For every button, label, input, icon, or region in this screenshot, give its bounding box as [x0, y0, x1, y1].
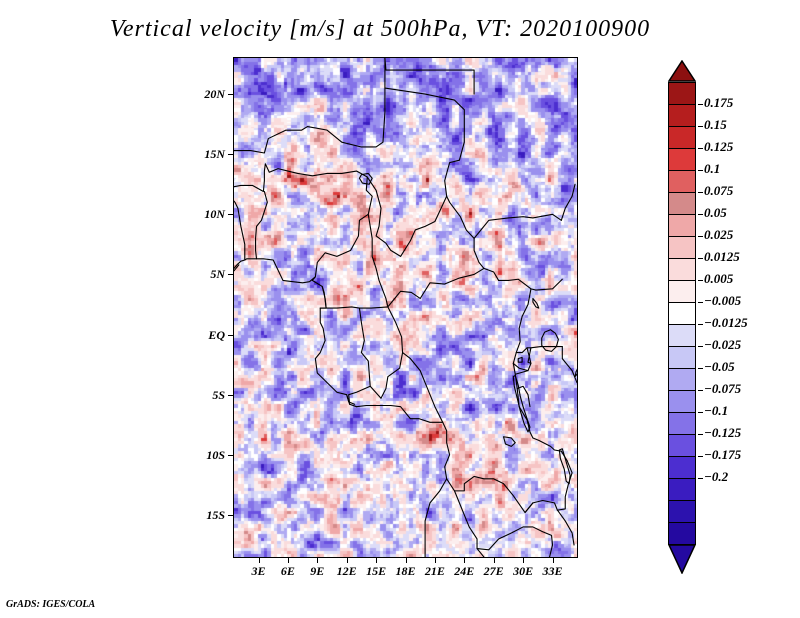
- colorbar-swatch[interactable]: [668, 346, 696, 369]
- colorbar-swatch[interactable]: [668, 214, 696, 237]
- colorbar-tick: [698, 280, 703, 281]
- y-tick-label: 5S: [187, 388, 225, 403]
- colorbar-swatch[interactable]: [668, 170, 696, 193]
- x-tick-label: 33E: [533, 564, 573, 579]
- x-tick-mark: [376, 558, 377, 563]
- colorbar-swatch[interactable]: [668, 478, 696, 501]
- colorbar-tick: [698, 148, 703, 149]
- colorbar-swatch[interactable]: [668, 434, 696, 457]
- x-tick-mark: [347, 558, 348, 563]
- colorbar-tick: [698, 302, 703, 303]
- colorbar-swatch[interactable]: [668, 368, 696, 391]
- colorbar-swatch[interactable]: [668, 302, 696, 325]
- y-tick-mark: [228, 274, 233, 275]
- colorbar-label: 0.025: [704, 227, 733, 243]
- colorbar[interactable]: 0.1750.150.1250.10.0750.050.0250.01250.0…: [668, 60, 798, 560]
- colorbar-max-arrow: [668, 60, 696, 82]
- page-title: Vertical velocity [m/s] at 500hPa, VT: 2…: [0, 16, 760, 43]
- colorbar-label: 0.175: [704, 95, 733, 111]
- colorbar-swatch[interactable]: [668, 412, 696, 435]
- map-plot-area[interactable]: [233, 57, 578, 558]
- x-tick-mark: [288, 558, 289, 563]
- country-borders-overlay: [234, 58, 577, 557]
- y-tick-label: EQ: [187, 328, 225, 343]
- colorbar-label: −0.1: [704, 403, 728, 419]
- colorbar-label: 0.05: [704, 205, 727, 221]
- x-tick-mark: [494, 558, 495, 563]
- x-tick-mark: [435, 558, 436, 563]
- colorbar-label: −0.175: [704, 447, 741, 463]
- y-tick-label: 10N: [187, 207, 225, 222]
- grads-plot-page: Vertical velocity [m/s] at 500hPa, VT: 2…: [0, 0, 800, 618]
- colorbar-label: 0.15: [704, 117, 727, 133]
- colorbar-label: −0.0125: [704, 315, 748, 331]
- colorbar-label: −0.05: [704, 359, 735, 375]
- colorbar-label: 0.1: [704, 161, 720, 177]
- colorbar-swatch[interactable]: [668, 280, 696, 303]
- colorbar-tick: [698, 368, 703, 369]
- x-tick-mark: [523, 558, 524, 563]
- colorbar-swatch[interactable]: [668, 500, 696, 523]
- colorbar-tick: [698, 390, 703, 391]
- colorbar-label: 0.075: [704, 183, 733, 199]
- colorbar-swatch[interactable]: [668, 522, 696, 545]
- y-tick-label: 5N: [187, 267, 225, 282]
- colorbar-label: −0.005: [704, 293, 741, 309]
- x-tick-mark: [317, 558, 318, 563]
- colorbar-tick: [698, 170, 703, 171]
- colorbar-swatch[interactable]: [668, 456, 696, 479]
- colorbar-tick: [698, 104, 703, 105]
- colorbar-tick: [698, 324, 703, 325]
- colorbar-label: 0.0125: [704, 249, 740, 265]
- colorbar-swatch[interactable]: [668, 82, 696, 105]
- colorbar-swatch[interactable]: [668, 236, 696, 259]
- x-tick-mark: [553, 558, 554, 563]
- colorbar-label: −0.125: [704, 425, 741, 441]
- y-tick-label: 20N: [187, 87, 225, 102]
- colorbar-swatch[interactable]: [668, 148, 696, 171]
- colorbar-min-arrow: [668, 544, 696, 574]
- colorbar-label: −0.075: [704, 381, 741, 397]
- x-tick-mark: [464, 558, 465, 563]
- colorbar-tick: [698, 236, 703, 237]
- y-tick-mark: [228, 515, 233, 516]
- colorbar-tick: [698, 412, 703, 413]
- colorbar-tick: [698, 456, 703, 457]
- colorbar-label: 0.125: [704, 139, 733, 155]
- y-tick-mark: [228, 154, 233, 155]
- y-tick-label: 10S: [187, 448, 225, 463]
- y-tick-mark: [228, 214, 233, 215]
- colorbar-swatch[interactable]: [668, 324, 696, 347]
- y-tick-label: 15N: [187, 147, 225, 162]
- colorbar-swatch[interactable]: [668, 258, 696, 281]
- colorbar-tick: [698, 434, 703, 435]
- colorbar-swatch[interactable]: [668, 104, 696, 127]
- y-tick-label: 15S: [187, 508, 225, 523]
- colorbar-swatch[interactable]: [668, 192, 696, 215]
- y-tick-mark: [228, 94, 233, 95]
- colorbar-tick: [698, 258, 703, 259]
- colorbar-swatch[interactable]: [668, 390, 696, 413]
- y-tick-mark: [228, 395, 233, 396]
- colorbar-tick: [698, 478, 703, 479]
- y-tick-mark: [228, 455, 233, 456]
- colorbar-label: −0.025: [704, 337, 741, 353]
- colorbar-label: 0.005: [704, 271, 733, 287]
- y-tick-mark: [228, 335, 233, 336]
- colorbar-tick: [698, 192, 703, 193]
- colorbar-tick: [698, 346, 703, 347]
- credit-label: GrADS: IGES/COLA: [6, 599, 95, 610]
- colorbar-tick: [698, 214, 703, 215]
- colorbar-label: −0.2: [704, 469, 728, 485]
- colorbar-swatch[interactable]: [668, 126, 696, 149]
- x-tick-mark: [406, 558, 407, 563]
- x-tick-mark: [259, 558, 260, 563]
- colorbar-tick: [698, 126, 703, 127]
